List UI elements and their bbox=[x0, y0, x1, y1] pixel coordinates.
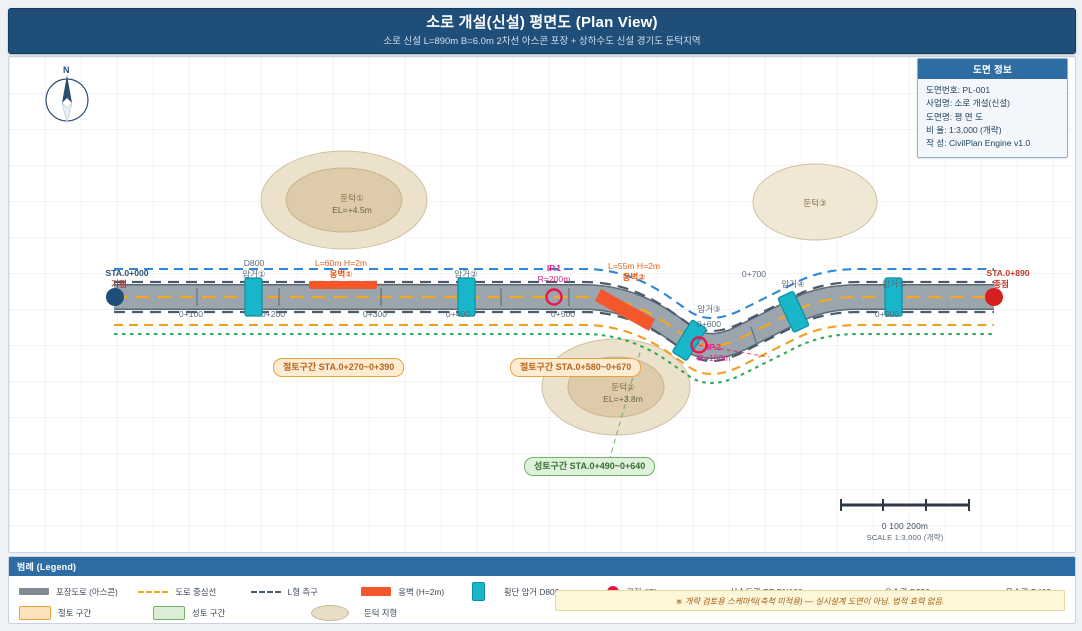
legend-label-wall: 옹벽 (H=2m) bbox=[398, 586, 444, 598]
culvert-1-shape bbox=[245, 278, 262, 316]
callout-cut-2[interactable]: 절토구간 STA.0+580~0+670 bbox=[510, 358, 641, 377]
start-point-marker bbox=[106, 288, 124, 306]
disclaimer-note: ※ 개략 검토용 스케마틱(축척 미적용) — 실시설계 도면이 아님. 법적 … bbox=[555, 590, 1065, 611]
cut-swatch-icon bbox=[19, 606, 51, 620]
station-label-0100: 0+100 bbox=[179, 309, 203, 320]
disclaimer-text: ※ 개략 검토용 스케마틱(축척 미적용) — 실시설계 도면이 아님. 법적 … bbox=[676, 595, 945, 607]
scale-bar: 0 100 200m SCALE 1:3,000 (개략) bbox=[837, 497, 973, 543]
legend-item-cut[interactable]: 절토 구간 bbox=[19, 606, 139, 620]
callout-cut-1[interactable]: 절토구간 STA.0+270~0+390 bbox=[273, 358, 404, 377]
legend-item-gutter[interactable]: L형 측구 bbox=[251, 586, 348, 598]
title-block: 소로 개설(신설) 평면도 (Plan View) 소로 신설 L=890m B… bbox=[8, 8, 1076, 54]
mound-2-elev: EL=+3.8m bbox=[603, 394, 643, 405]
plan-view-canvas[interactable]: N 도면 정보 도면번호: PL-001 사업명: 소로 개설(신설) 도면명:… bbox=[8, 56, 1076, 553]
start-station-label: STA.0+000 bbox=[105, 268, 148, 279]
legend-label-road: 포장도로 (아스콘) bbox=[56, 586, 118, 598]
culvert-4-label: 암거④ bbox=[781, 279, 805, 290]
station-label-0400: 0+400 bbox=[446, 309, 470, 320]
station-label-0700: 0+700 bbox=[742, 269, 766, 280]
station-label-0200: 0+200 bbox=[261, 309, 285, 320]
culvert-3-label: 암거③ bbox=[697, 304, 721, 315]
scale-bar-icon bbox=[837, 497, 973, 513]
end-station-label: STA.0+890 bbox=[986, 268, 1029, 279]
mound-2-label: 둔턱② bbox=[611, 382, 635, 393]
station-label-0800: 0+800 bbox=[875, 309, 899, 320]
legend-label-centerline: 도로 중심선 bbox=[175, 586, 216, 598]
wall-1-label: 옹벽① bbox=[329, 269, 352, 280]
legend-label-mound: 둔턱 지형 bbox=[364, 607, 397, 619]
mound-1-label: 둔턱① bbox=[340, 193, 364, 204]
legend-heading: 범례 (Legend) bbox=[9, 557, 1075, 576]
fill-swatch-icon bbox=[153, 606, 185, 620]
ip-1-radius: R=200m bbox=[538, 274, 571, 285]
wall-1-spec: L=60m H=2m bbox=[315, 258, 367, 269]
station-label-0600: 0+600 bbox=[697, 319, 721, 330]
culvert-swatch-icon bbox=[472, 582, 485, 601]
legend-item-fill[interactable]: 성토 구간 bbox=[153, 606, 273, 620]
scale-bar-caption: SCALE 1:3,000 (개략) bbox=[837, 532, 973, 543]
wall-swatch-icon bbox=[361, 587, 391, 596]
station-label-0500: 0+500 bbox=[551, 309, 575, 320]
culvert-1-size: D800 bbox=[244, 258, 265, 269]
legend-item-mound[interactable]: 둔턱 지형 bbox=[311, 605, 397, 621]
ip-2-radius: R=150m bbox=[698, 353, 731, 364]
callout-fill-1[interactable]: 성토구간 STA.0+490~0+640 bbox=[524, 457, 655, 476]
ip-1-label: IP.1 bbox=[547, 263, 561, 274]
drawing-title: 소로 개설(신설) 평면도 (Plan View) bbox=[426, 15, 657, 32]
legend-label-cut: 절토 구간 bbox=[58, 607, 91, 619]
gutter-swatch-icon bbox=[251, 591, 281, 593]
legend-item-centerline[interactable]: 도로 중심선 bbox=[138, 586, 236, 598]
road-swatch-icon bbox=[19, 588, 49, 595]
culvert-1-label: 암거① bbox=[242, 269, 266, 280]
wall-2-spec: L=55m H=2m bbox=[608, 261, 660, 272]
end-point-label: 종점 bbox=[993, 279, 1009, 290]
station-label-0300: 0+300 bbox=[363, 309, 387, 320]
drawing-sheet: 소로 개설(신설) 평면도 (Plan View) 소로 신설 L=890m B… bbox=[0, 0, 1082, 631]
wall-1-shape bbox=[309, 281, 377, 289]
ip-2-label: IP.2 bbox=[707, 342, 721, 353]
start-point-label: 기점 bbox=[111, 279, 127, 290]
legend-label-fill: 성토 구간 bbox=[192, 607, 225, 619]
plan-geometry bbox=[9, 57, 1075, 552]
culvert-5-label: 암거⑤ bbox=[882, 279, 906, 290]
mound-3-label: 둔턱③ bbox=[803, 198, 827, 209]
legend-item-wall[interactable]: 옹벽 (H=2m) bbox=[361, 586, 458, 598]
drawing-subtitle: 소로 신설 L=890m B=6.0m 2차선 아스콘 포장 + 상하수도 신설… bbox=[383, 37, 700, 47]
mound-1-elev: EL=+4.5m bbox=[332, 205, 372, 216]
mound-swatch-icon bbox=[311, 605, 349, 621]
legend-item-road[interactable]: 포장도로 (아스콘) bbox=[19, 586, 124, 598]
legend-panel: 범례 (Legend) 포장도로 (아스콘) 도로 중심선 L형 측구 옹벽 (… bbox=[8, 556, 1076, 624]
end-point-marker bbox=[985, 288, 1003, 306]
legend-label-culvert: 횡단 암거 D800 bbox=[504, 586, 560, 598]
legend-label-gutter: L형 측구 bbox=[288, 586, 318, 598]
centerline-swatch-icon bbox=[138, 591, 168, 593]
scale-bar-ticks: 0 100 200m bbox=[837, 521, 973, 531]
wall-2-label: 옹벽② bbox=[622, 272, 645, 283]
culvert-2-label: 암거② bbox=[454, 269, 478, 280]
